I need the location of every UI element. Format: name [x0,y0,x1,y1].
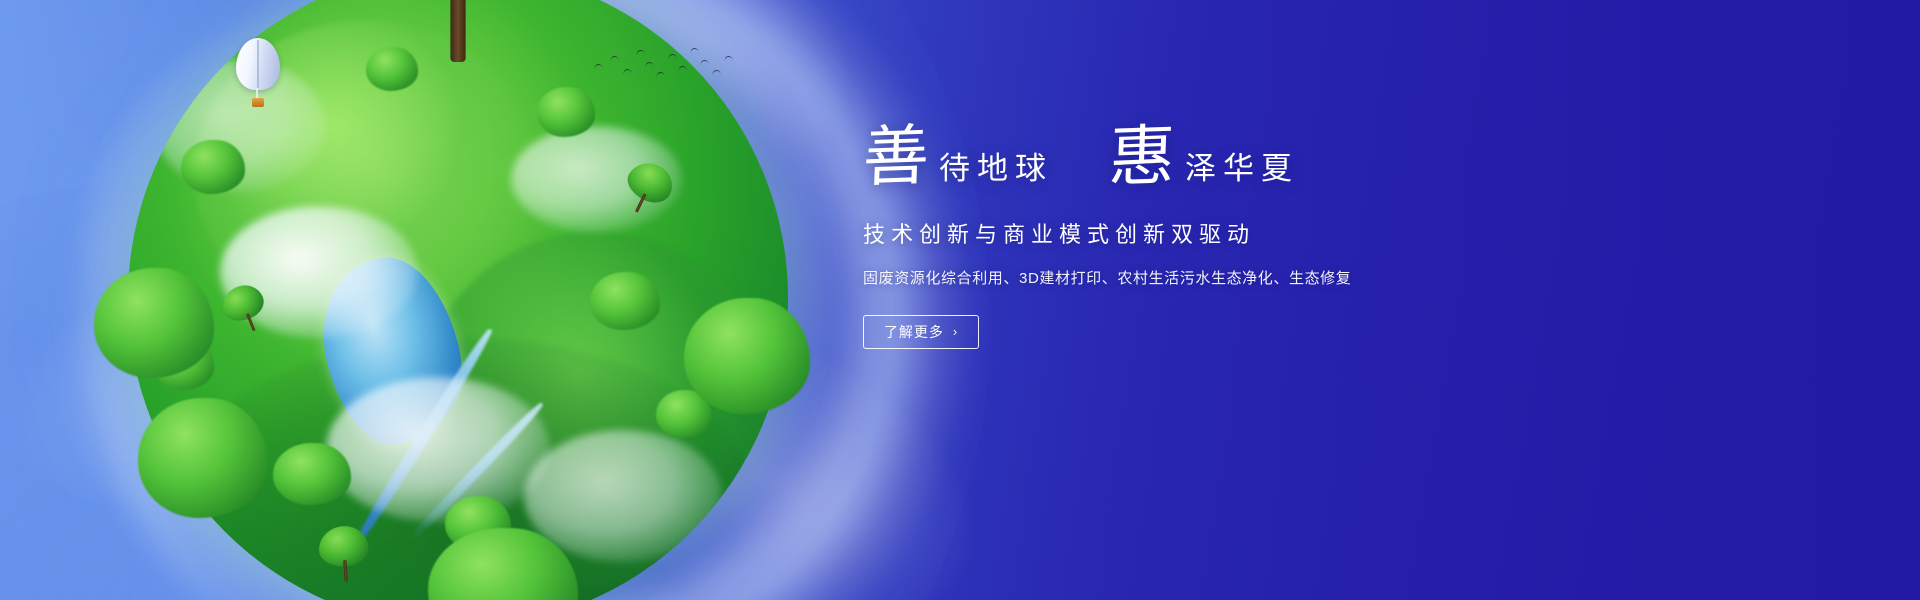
hero-content: 善 待地球 惠 泽华夏 技术创新与商业模式创新双驱动 固废资源化综合利用、3D建… [863,126,1563,349]
headline-brush-char-2: 惠 [1108,125,1176,190]
hero-description: 固废资源化综合利用、3D建材打印、农村生活污水生态净化、生态修复 [863,267,1563,288]
hero-banner: 善 待地球 惠 泽华夏 技术创新与商业模式创新双驱动 固废资源化综合利用、3D建… [0,0,1920,600]
learn-more-button[interactable]: 了解更多 › [863,315,979,349]
headline-tail-1: 待地球 [939,153,1053,189]
headline-tail-2: 泽华夏 [1185,153,1299,189]
headline-brush-char-1: 善 [862,125,930,190]
chevron-right-icon: › [953,325,958,338]
hero-subtitle: 技术创新与商业模式创新双驱动 [863,217,1563,249]
learn-more-label: 了解更多 [884,322,944,342]
hero-headline: 善 待地球 惠 泽华夏 [863,126,1563,189]
